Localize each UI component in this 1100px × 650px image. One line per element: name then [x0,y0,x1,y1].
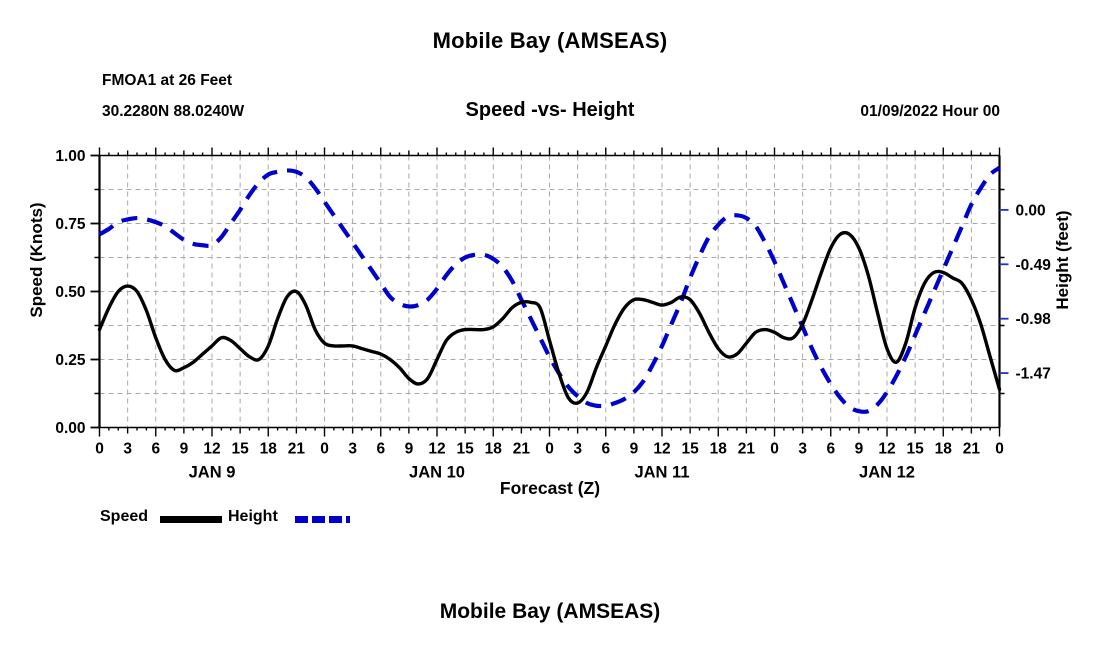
x-axis-tick-label: 18 [935,441,953,458]
x-axis-tick-label: 6 [601,441,610,458]
x-axis-tick-label: 9 [180,441,189,458]
legend-label-speed: Speed [100,508,148,526]
x-axis-day-label: JAN 9 [189,464,236,482]
legend-swatch-height [295,516,350,523]
legend-swatch-speed [160,516,222,523]
y-axis-tick-label-left: 1.00 [55,148,85,165]
footer-title: Mobile Bay (AMSEAS) [0,600,1100,624]
x-axis-day-label: JAN 12 [859,464,915,482]
y-axis-tick-label-left: 0.75 [55,216,86,233]
x-axis-tick-label: 9 [855,441,864,458]
y-axis-tick-label-right: 0.00 [1016,202,1046,219]
x-axis-tick-label: 15 [232,441,250,458]
x-axis-tick-label: 0 [545,441,554,458]
y-axis-tick-label-left: 0.00 [55,420,85,437]
x-axis-tick-label: 15 [682,441,700,458]
x-axis-tick-label: 12 [878,441,895,458]
x-axis-tick-label: 18 [260,441,278,458]
x-axis-tick-label: 9 [405,441,414,458]
x-axis-day-label: JAN 10 [409,464,465,482]
x-axis-tick-label: 6 [826,441,835,458]
x-axis-tick-label: 3 [123,441,132,458]
x-axis-tick-label: 21 [288,441,306,458]
x-axis-tick-label: 6 [376,441,385,458]
y-axis-tick-label-right: -1.47 [1016,366,1051,383]
x-axis-tick-label: 18 [710,441,728,458]
x-axis-tick-label: 3 [348,441,357,458]
y-axis-tick-label-left: 0.25 [55,352,86,369]
x-axis-tick-label: 12 [428,441,445,458]
x-axis-tick-label: 3 [798,441,807,458]
x-axis-tick-label: 21 [963,441,981,458]
x-axis-tick-label: 18 [485,441,503,458]
x-axis-tick-label: 3 [573,441,582,458]
x-axis-tick-label: 21 [738,441,756,458]
x-axis-tick-label: 15 [907,441,925,458]
legend-label-height: Height [228,508,278,526]
x-axis-tick-label: 0 [770,441,779,458]
y-axis-tick-label-right: -0.49 [1016,257,1052,274]
x-axis-tick-label: 15 [457,441,475,458]
x-axis-tick-label: 0 [95,441,104,458]
x-axis-tick-label: 9 [630,441,639,458]
x-axis-tick-label: 0 [995,441,1004,458]
chart-page: Mobile Bay (AMSEAS) FMOA1 at 26 Feet 30.… [0,0,1100,650]
x-axis-day-label: JAN 11 [634,464,689,482]
x-axis-tick-label: 12 [653,441,670,458]
x-axis-tick-label: 12 [203,441,220,458]
chart-plot-area: 0.000.250.500.751.00-1.47-0.98-0.490.000… [0,0,1100,650]
y-axis-tick-label-left: 0.50 [55,284,85,301]
x-axis-tick-label: 0 [320,441,329,458]
x-axis-tick-label: 21 [513,441,531,458]
x-axis-tick-label: 6 [151,441,160,458]
y-axis-tick-label-right: -0.98 [1016,311,1052,328]
